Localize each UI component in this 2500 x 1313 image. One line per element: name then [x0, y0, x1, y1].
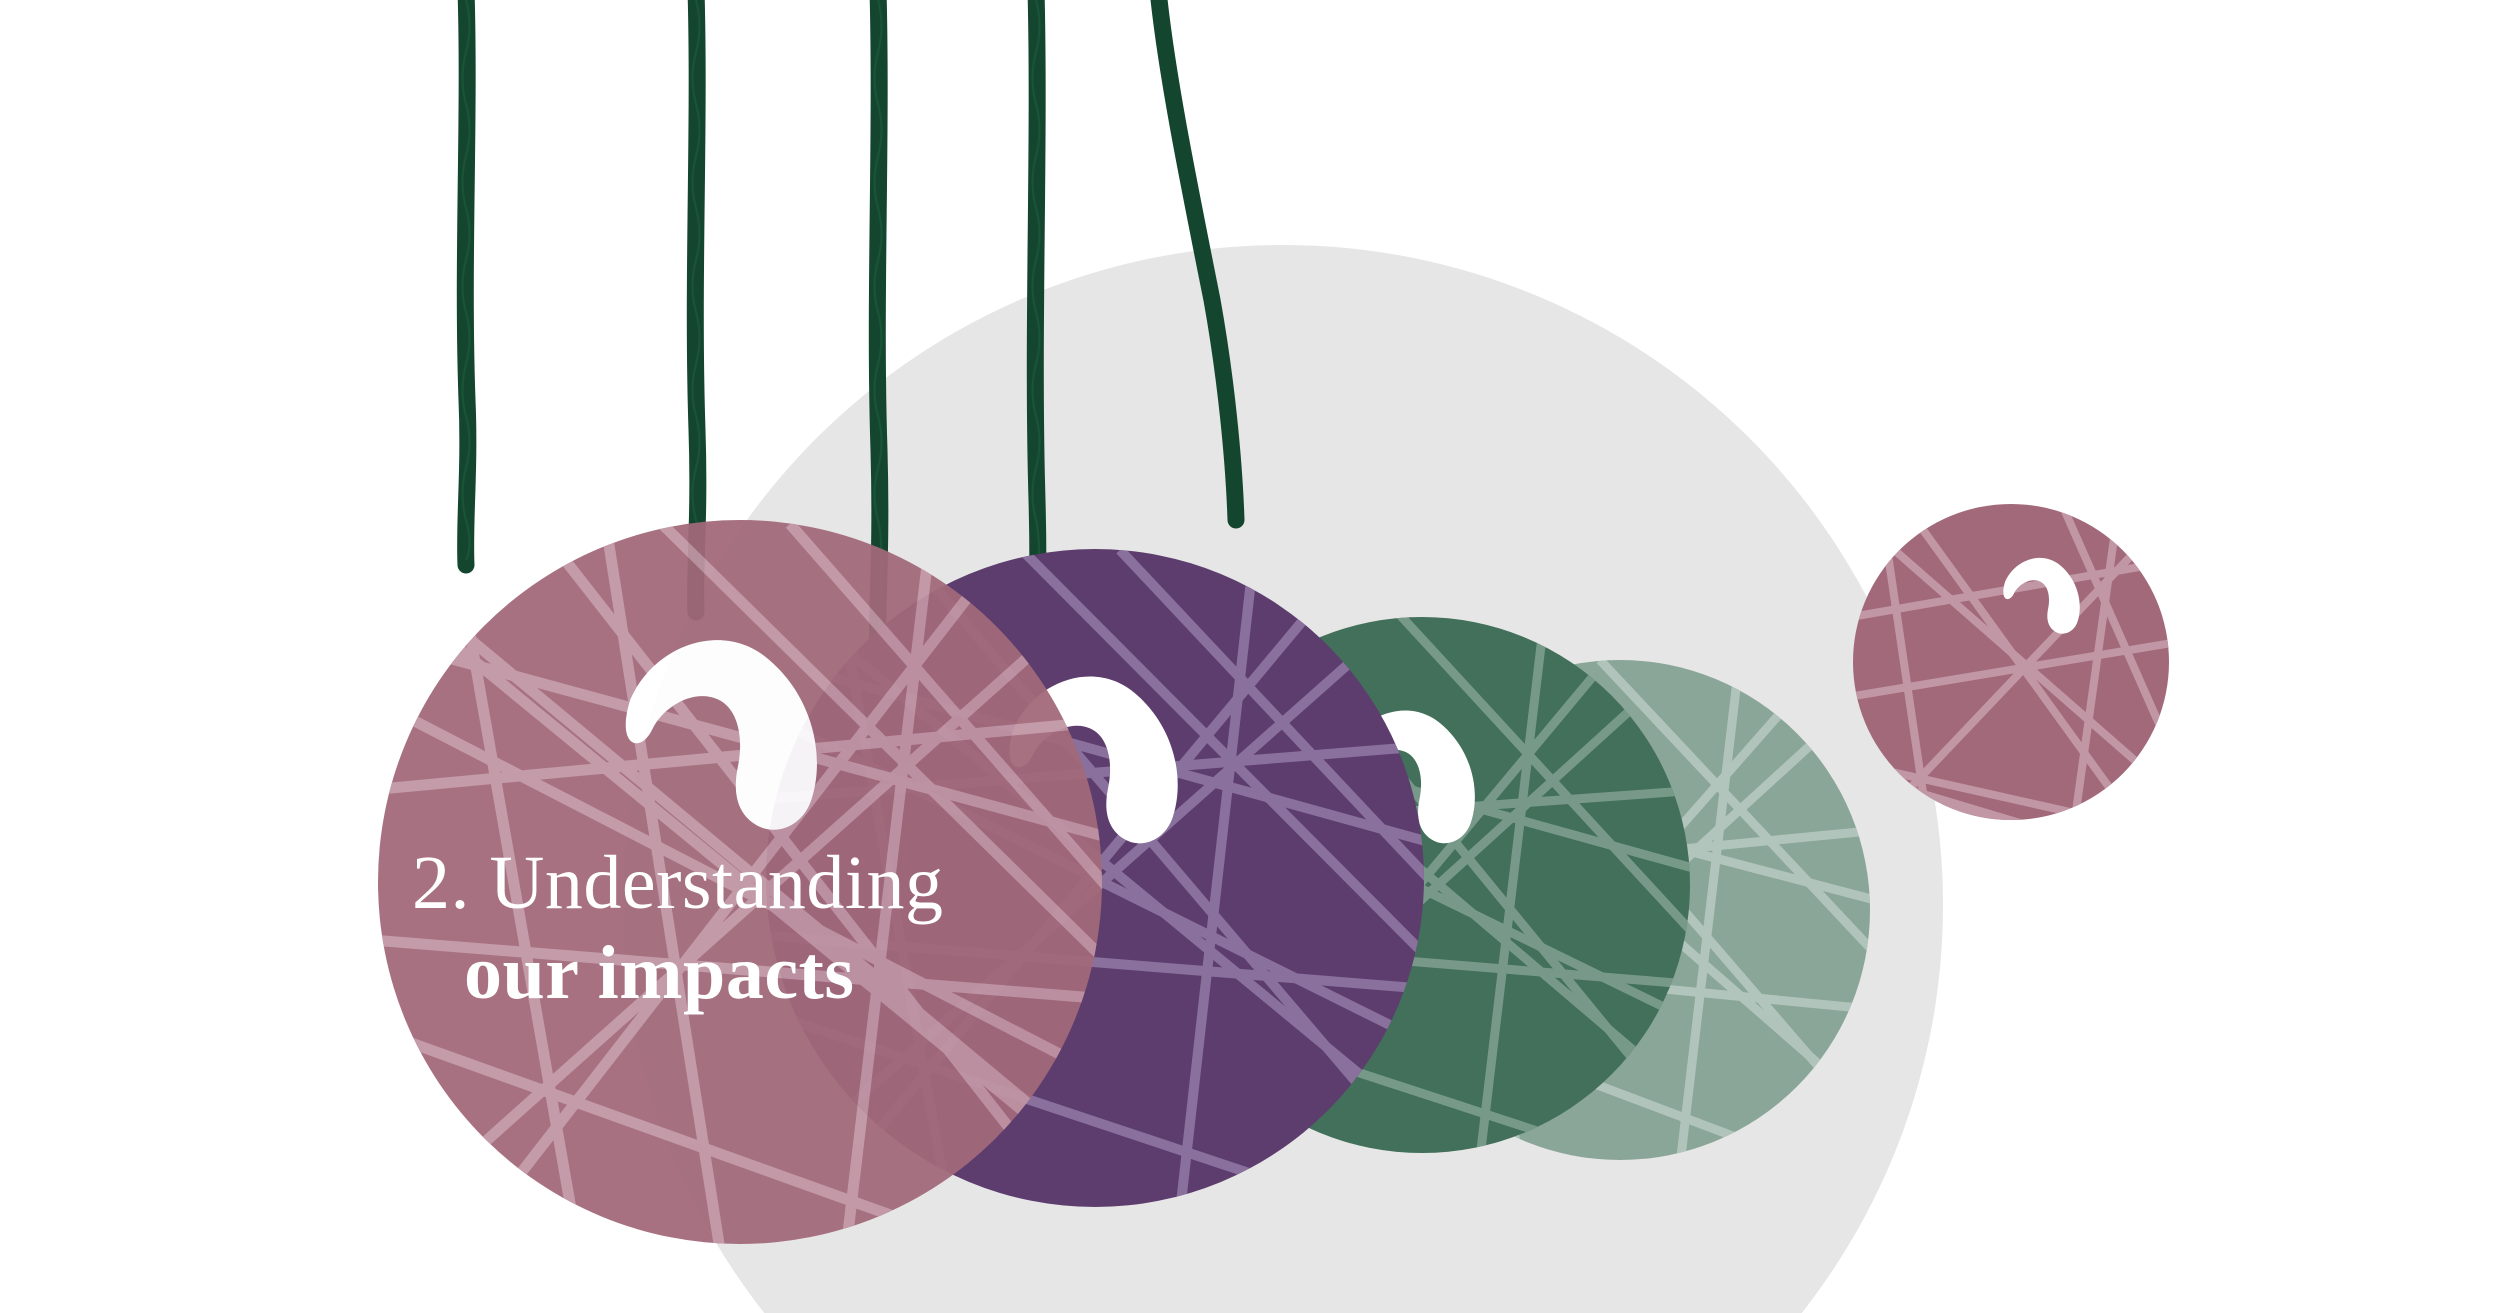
slide-canvas: 2. Understanding our impacts	[0, 0, 2500, 1313]
cord-1	[465, 0, 468, 565]
pendulum-illustration	[0, 0, 2500, 1313]
